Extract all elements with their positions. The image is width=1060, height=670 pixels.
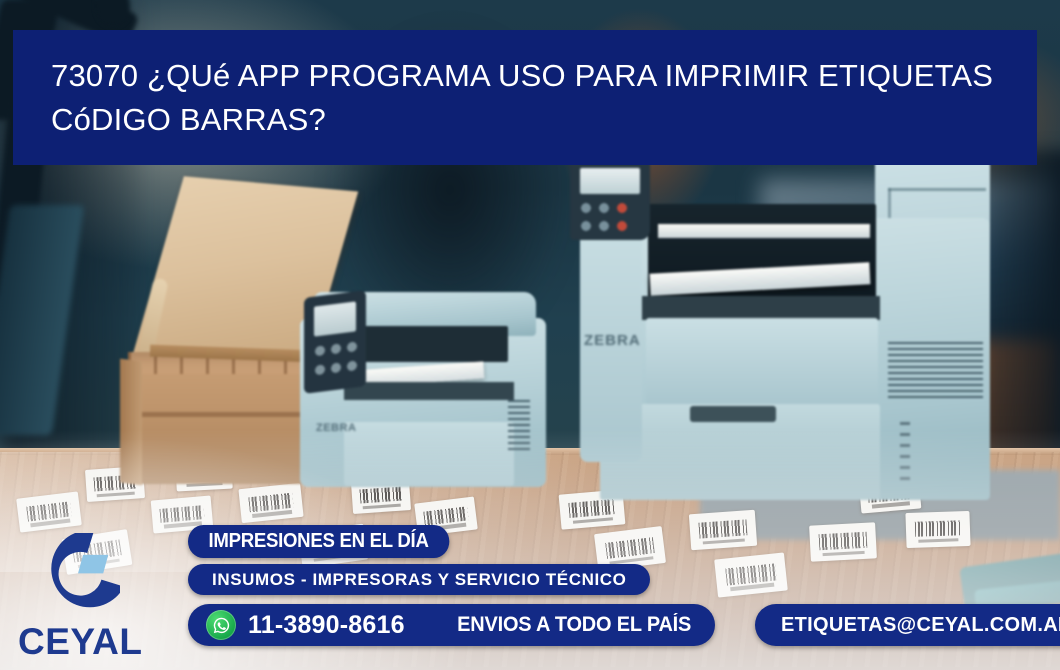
- barcode-label: [689, 510, 757, 551]
- printer-handle: [690, 406, 776, 422]
- printer-display: [580, 168, 640, 194]
- contact-phone-bar[interactable]: 11-3890-8616 ENVIOS A TODO EL PAÍS: [188, 604, 715, 646]
- printer-brand-label: ZEBRA: [584, 332, 641, 349]
- contact-email-bar[interactable]: ETIQUETAS@CEYAL.COM.AR: [755, 604, 1060, 646]
- label-printer-large: ZEBRA: [570, 160, 990, 500]
- poster-canvas: ZEBRA ZEBRA: [0, 0, 1060, 670]
- backdrop-shadow-right: [985, 150, 1060, 480]
- printer-shelf: [640, 296, 880, 320]
- barcode-label: [714, 552, 788, 597]
- printer-media-sheet: [658, 224, 870, 238]
- badge-supplies-printers-service[interactable]: INSUMOS - IMPRESORAS Y SERVICIO TÉCNICO: [188, 564, 650, 595]
- badge-label: INSUMOS - IMPRESORAS Y SERVICIO TÉCNICO: [212, 570, 626, 590]
- barcode-label: [905, 511, 970, 548]
- printer-vent: [508, 400, 530, 454]
- shipping-text: ENVIOS A TODO EL PAÍS: [457, 613, 691, 637]
- printer-brand-label: ZEBRA: [316, 422, 356, 434]
- page-title: 73070 ¿QUé APP PROGRAMA USO PARA IMPRIMI…: [13, 54, 1037, 142]
- printer-keypad: [578, 200, 642, 236]
- phone-number: 11-3890-8616: [248, 611, 405, 640]
- printer-drawer: [344, 422, 514, 486]
- badge-label: IMPRESIONES EN EL DÍA: [208, 530, 428, 553]
- printer-media-slot: [358, 326, 508, 362]
- whatsapp-icon[interactable]: [206, 610, 236, 640]
- email-address: ETIQUETAS@CEYAL.COM.AR: [781, 614, 1060, 637]
- box-side-flap: [120, 359, 142, 486]
- barcode-label: [809, 522, 877, 561]
- brand-name: CEYAL: [18, 621, 168, 663]
- printer-tower-seam: [888, 188, 986, 191]
- printer-shadow-band: [344, 382, 514, 400]
- brand-logo[interactable]: CEYAL: [18, 533, 168, 658]
- badge-same-day-printing[interactable]: IMPRESIONES EN EL DÍA: [188, 525, 449, 558]
- barcode-label: [238, 483, 303, 523]
- ceyal-c-monogram-icon: [36, 533, 120, 617]
- printer-indicator-dots: [900, 422, 910, 488]
- printer-media-cavity: [648, 204, 876, 310]
- title-banner: 73070 ¿QUé APP PROGRAMA USO PARA IMPRIMI…: [13, 30, 1037, 165]
- label-printer-small: ZEBRA: [300, 282, 546, 487]
- printer-front-cover: [646, 318, 878, 404]
- printer-control-panel: [570, 160, 650, 240]
- printer-control-panel: [304, 290, 366, 394]
- printer-display: [314, 301, 356, 336]
- printer-vent: [888, 342, 983, 400]
- printer-keypad: [313, 339, 358, 385]
